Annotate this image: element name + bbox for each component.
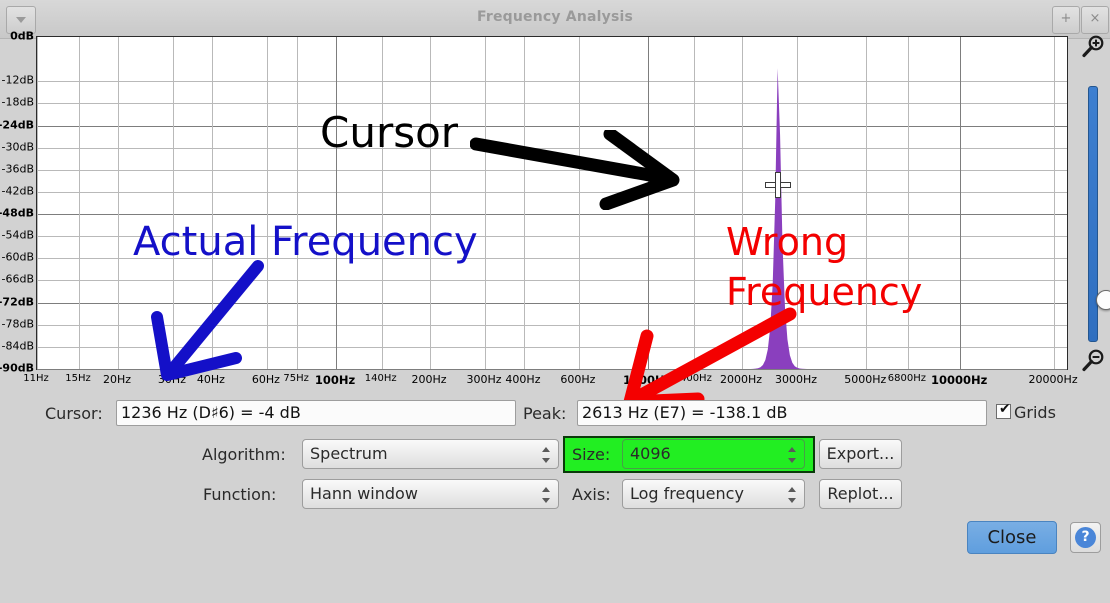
y-axis-tick-label: -18dB (2, 96, 35, 109)
frequency-analysis-window: Frequency Analysis + × 0dB-12dB-18dB-24d… (0, 0, 1110, 603)
x-axis-tick-label: 6800Hz (888, 373, 926, 384)
spectrum-trace (37, 37, 1067, 369)
y-axis-tick-label: -84dB (2, 339, 35, 352)
crosshair-vertical (775, 172, 781, 198)
x-axis-tick-label: 10000Hz (931, 373, 987, 387)
cursor-crosshair[interactable] (765, 172, 791, 198)
size-label: Size: (572, 445, 610, 464)
algorithm-label: Algorithm: (202, 445, 286, 464)
algorithm-select[interactable]: Spectrum (302, 439, 559, 469)
question-mark-icon: ? (1075, 527, 1096, 548)
peak-label: Peak: (523, 404, 566, 423)
function-select[interactable]: Hann window (302, 479, 559, 509)
y-axis: 0dB-12dB-18dB-24dB-30dB-36dB-42dB-48dB-5… (0, 36, 34, 370)
x-axis-tick-label: 40Hz (197, 373, 225, 386)
axis-select[interactable]: Log frequency (622, 479, 805, 509)
window-title: Frequency Analysis (0, 9, 1110, 25)
zoom-slider-track[interactable] (1088, 86, 1098, 342)
axis-value: Log frequency (630, 484, 744, 503)
x-axis-tick-label: 1400Hz (674, 373, 712, 384)
x-axis-tick-label: 140Hz (365, 373, 397, 384)
gridline-horizontal (37, 369, 1067, 370)
x-axis-tick-label: 5000Hz (844, 373, 886, 386)
grids-label: Grids (1014, 403, 1056, 422)
maximize-button[interactable]: + (1052, 6, 1080, 34)
close-button[interactable]: Close (967, 521, 1057, 554)
x-axis-tick-label: 100Hz (315, 373, 355, 387)
y-axis-tick-label: -48dB (0, 207, 34, 220)
replot-button[interactable]: Replot... (819, 479, 902, 509)
zoom-slider-handle[interactable] (1096, 290, 1110, 310)
spinner-icon (542, 486, 551, 504)
x-axis-tick-label: 11Hz (23, 373, 49, 384)
help-button[interactable]: ? (1070, 522, 1101, 553)
x-axis-tick-label: 75Hz (283, 373, 309, 384)
size-value: 4096 (630, 444, 671, 463)
y-axis-tick-label: -72dB (0, 295, 34, 308)
x-axis-tick-label: 400Hz (505, 373, 540, 386)
x-axis-tick-label: 15Hz (65, 373, 91, 384)
y-axis-tick-label: -24dB (0, 118, 34, 131)
zoom-control-strip[interactable] (1076, 34, 1110, 374)
cursor-readout-field[interactable]: 1236 Hz (D♯6) = -4 dB (116, 400, 516, 426)
function-value: Hann window (310, 484, 418, 503)
spinner-icon (788, 446, 797, 464)
cursor-label: Cursor: (45, 404, 103, 423)
x-axis-tick-label: 200Hz (412, 373, 447, 386)
x-axis-tick-label: 2000Hz (720, 373, 762, 386)
axis-label: Axis: (572, 485, 611, 504)
x-axis-tick-label: 60Hz (252, 373, 280, 386)
y-axis-tick-label: -12dB (2, 74, 35, 87)
y-axis-tick-label: -60dB (2, 251, 35, 264)
x-axis-tick-label: 20Hz (103, 373, 131, 386)
spinner-icon (542, 446, 551, 464)
checkmark-icon: ✔ (999, 402, 1011, 417)
y-axis-tick-label: -78dB (2, 317, 35, 330)
y-axis-tick-label: -30dB (2, 140, 35, 153)
x-axis-tick-label: 20000Hz (1029, 373, 1078, 386)
magnifier-minus-icon[interactable] (1080, 348, 1106, 374)
y-axis-tick-label: -54dB (2, 229, 35, 242)
x-axis-tick-label: 600Hz (560, 373, 595, 386)
close-window-button[interactable]: × (1081, 6, 1109, 34)
y-axis-tick-label: 0dB (10, 30, 34, 43)
y-axis-tick-label: -42dB (2, 184, 35, 197)
x-axis-tick-label: 300Hz (466, 373, 501, 386)
size-spinbox[interactable]: 4096 (622, 439, 805, 469)
x-axis: 11Hz15Hz20Hz30Hz40Hz60Hz75Hz100Hz140Hz20… (36, 371, 1068, 391)
peak-readout-field[interactable]: 2613 Hz (E7) = -138.1 dB (577, 400, 987, 426)
algorithm-value: Spectrum (310, 444, 388, 463)
spinner-icon (788, 486, 797, 504)
grids-checkbox[interactable]: ✔ (996, 404, 1011, 419)
y-axis-tick-label: -36dB (2, 162, 35, 175)
export-button[interactable]: Export... (819, 439, 902, 469)
function-label: Function: (203, 485, 276, 504)
y-axis-tick-label: -66dB (2, 273, 35, 286)
x-axis-tick-label: 30Hz (158, 373, 186, 386)
magnifier-plus-icon[interactable] (1080, 34, 1106, 60)
spectrum-plot[interactable] (36, 36, 1068, 370)
x-axis-tick-label: 1000Hz (623, 373, 671, 387)
x-axis-tick-label: 3000Hz (775, 373, 817, 386)
window-titlebar: Frequency Analysis + × (0, 0, 1110, 39)
